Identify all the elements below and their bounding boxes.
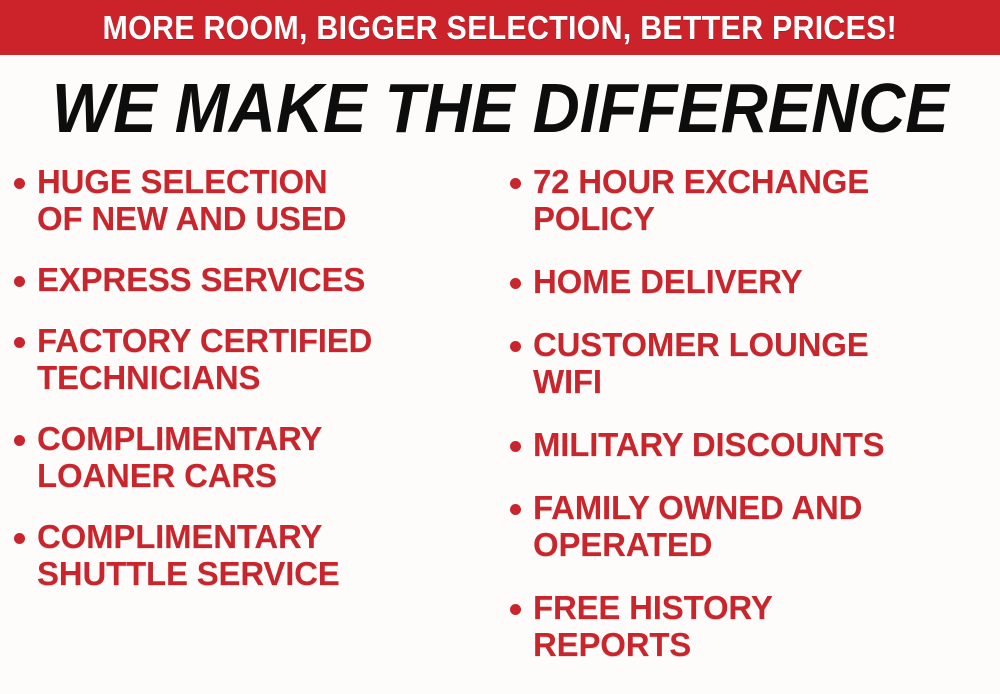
list-item-label: 72 HOUR EXCHANGE POLICY [533, 164, 869, 238]
list-item-label: FACTORY CERTIFIED TECHNICIANS [37, 323, 372, 397]
list-item-label: COMPLIMENTARY SHUTTLE SERVICE [37, 519, 340, 593]
list-item: COMPLIMENTARY LOANER CARS [14, 421, 500, 495]
bullet-dot-icon [510, 278, 521, 289]
header-tagline: MORE ROOM, BIGGER SELECTION, BETTER PRIC… [103, 11, 898, 44]
bullet-dot-icon [14, 276, 25, 287]
bullet-dot-icon [510, 178, 521, 189]
bullet-dot-icon [14, 533, 25, 544]
bullet-dot-icon [510, 341, 521, 352]
list-item-label: CUSTOMER LOUNGE WIFI [533, 327, 869, 401]
bullet-dot-icon [14, 178, 25, 189]
headline-container: WE MAKE THE DIFFERENCE [0, 55, 1000, 160]
list-item: 72 HOUR EXCHANGE POLICY [510, 164, 1000, 238]
bullet-dot-icon [510, 441, 521, 452]
list-item-label: HOME DELIVERY [533, 264, 802, 301]
list-item-label: EXPRESS SERVICES [37, 262, 365, 299]
bullet-dot-icon [14, 435, 25, 446]
benefits-column-left: HUGE SELECTION OF NEW AND USED EXPRESS S… [0, 160, 500, 617]
list-item-label: MILITARY DISCOUNTS [533, 427, 884, 464]
promotional-banner: MORE ROOM, BIGGER SELECTION, BETTER PRIC… [0, 0, 1000, 694]
list-item: FREE HISTORY REPORTS [510, 590, 1000, 664]
bullet-dot-icon [510, 504, 521, 515]
list-item: MILITARY DISCOUNTS [510, 427, 1000, 464]
benefits-columns: HUGE SELECTION OF NEW AND USED EXPRESS S… [0, 160, 1000, 694]
list-item-label: HUGE SELECTION OF NEW AND USED [37, 164, 346, 238]
list-item: HOME DELIVERY [510, 264, 1000, 301]
list-item: CUSTOMER LOUNGE WIFI [510, 327, 1000, 401]
list-item: EXPRESS SERVICES [14, 262, 500, 299]
list-item-label: FREE HISTORY REPORTS [533, 590, 773, 664]
list-item-label: COMPLIMENTARY LOANER CARS [37, 421, 322, 495]
bullet-dot-icon [510, 604, 521, 615]
main-headline: WE MAKE THE DIFFERENCE [52, 73, 949, 143]
list-item: COMPLIMENTARY SHUTTLE SERVICE [14, 519, 500, 593]
header-banner-band: MORE ROOM, BIGGER SELECTION, BETTER PRIC… [0, 0, 1000, 55]
list-item: HUGE SELECTION OF NEW AND USED [14, 164, 500, 238]
list-item: FACTORY CERTIFIED TECHNICIANS [14, 323, 500, 397]
benefits-column-right: 72 HOUR EXCHANGE POLICY HOME DELIVERY CU… [500, 160, 1000, 690]
list-item-label: FAMILY OWNED AND OPERATED [533, 490, 862, 564]
list-item: FAMILY OWNED AND OPERATED [510, 490, 1000, 564]
bullet-dot-icon [14, 337, 25, 348]
